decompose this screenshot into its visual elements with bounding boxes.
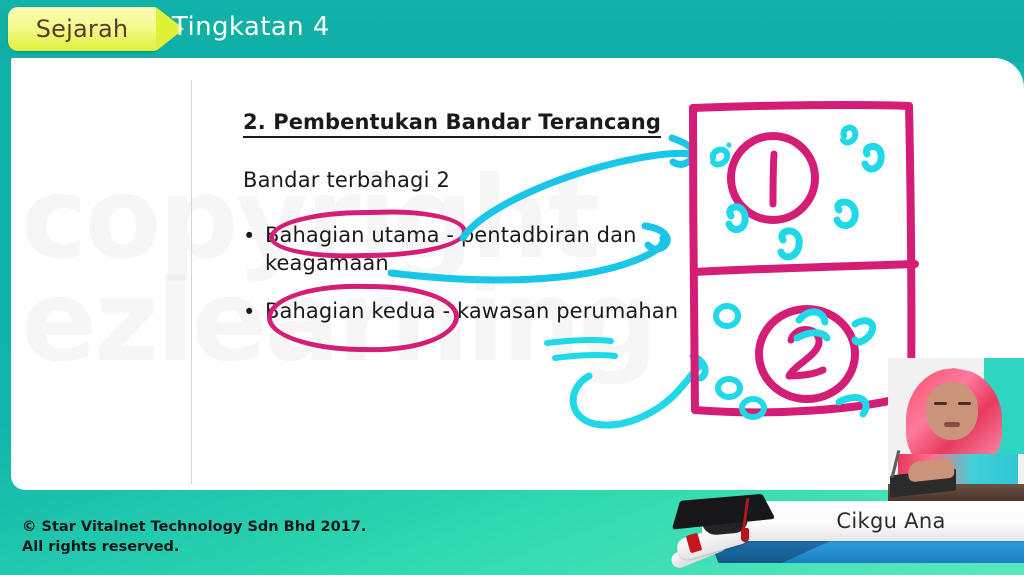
diagram-numeral-2 (789, 330, 823, 377)
header-bar: Sejarah Tingkatan 4 (0, 0, 1024, 62)
subject-badge-label: Sejarah (8, 7, 156, 51)
cyan-scribble-h (855, 321, 873, 342)
level-label: Tingkatan 4 (172, 12, 330, 42)
copyright-notice: © Star Vitalnet Technology Sdn Bhd 2017.… (22, 518, 366, 557)
presenter-video-feed[interactable] (888, 358, 1024, 508)
slide-viewer: Sejarah Tingkatan 4 copyright ezlearning… (0, 0, 1024, 575)
cyan-tick-b (799, 312, 825, 322)
cyan-dot-a (726, 142, 731, 147)
slide-panel: copyright ezlearning 2. Pembentukan Band… (11, 58, 1024, 490)
diagram-bottom-edge (695, 396, 909, 412)
list-item: • Bahagian utama - pentadbiran dan keaga… (243, 222, 713, 277)
list-item: • Bahagian kedua - kawasan perumahan (243, 298, 713, 326)
presenter-eye-left (934, 402, 947, 405)
cyan-swoop (573, 364, 701, 425)
diagram-divider-line (694, 264, 915, 272)
graduation-cap-icon (668, 486, 788, 572)
presenter-mouth (944, 422, 960, 427)
cyan-scribble-f (781, 231, 799, 257)
cyan-dash-1 (547, 340, 611, 343)
cyan-dash-2 (555, 355, 615, 358)
cyan-scribble-g (716, 306, 738, 326)
cyan-swoop-head (693, 356, 705, 378)
cyan-scribble-d (729, 207, 745, 230)
cyan-scribble-a (713, 150, 727, 165)
diagram-circle-1 (731, 136, 815, 220)
cyan-scribble-i (718, 379, 740, 397)
slide-heading: 2. Pembentukan Bandar Terancang (243, 110, 661, 138)
diagram-top-edge (693, 105, 909, 108)
subject-badge: Sejarah (8, 7, 156, 51)
cap-tassel (741, 528, 749, 542)
cyan-scribble-e (837, 202, 855, 226)
cyan-arrow-upper-head (672, 138, 693, 164)
cyan-scribble-b (843, 128, 855, 143)
cyan-tick-a (797, 333, 827, 338)
list-item-label: Bahagian kedua - kawasan perumahan (265, 298, 713, 326)
cyan-tick-c (839, 398, 866, 414)
diagram-right-edge (909, 106, 911, 396)
diagram-circle-2 (759, 309, 855, 399)
cyan-scribble-c (865, 146, 881, 169)
presenter-eye-right (958, 402, 971, 405)
bullet-dot-icon: • (243, 223, 256, 251)
slide-divider (191, 80, 192, 484)
cyan-scribble-j (742, 399, 764, 417)
bullet-dot-icon: • (243, 299, 256, 327)
presenter-face (926, 382, 978, 440)
diagram-numeral-1 (773, 154, 774, 204)
list-item-label: Bahagian utama - pentadbiran dan keagama… (265, 222, 713, 277)
slide-lead-text: Bandar terbahagi 2 (243, 168, 450, 192)
